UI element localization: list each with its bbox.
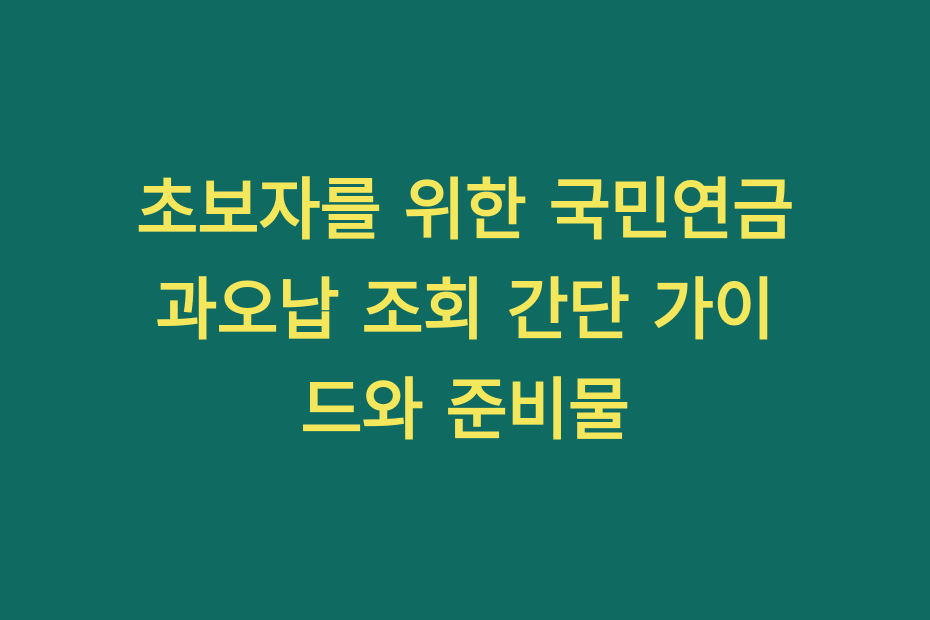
title-line-3: 드와 준비물 — [75, 360, 855, 460]
title-line-2: 과오납 조회 간단 가이 — [75, 260, 855, 360]
thumbnail-canvas: 초보자를 위한 국민연금 과오납 조회 간단 가이 드와 준비물 — [0, 0, 930, 620]
title-block: 초보자를 위한 국민연금 과오납 조회 간단 가이 드와 준비물 — [65, 160, 865, 460]
title-line-1: 초보자를 위한 국민연금 — [75, 160, 855, 260]
